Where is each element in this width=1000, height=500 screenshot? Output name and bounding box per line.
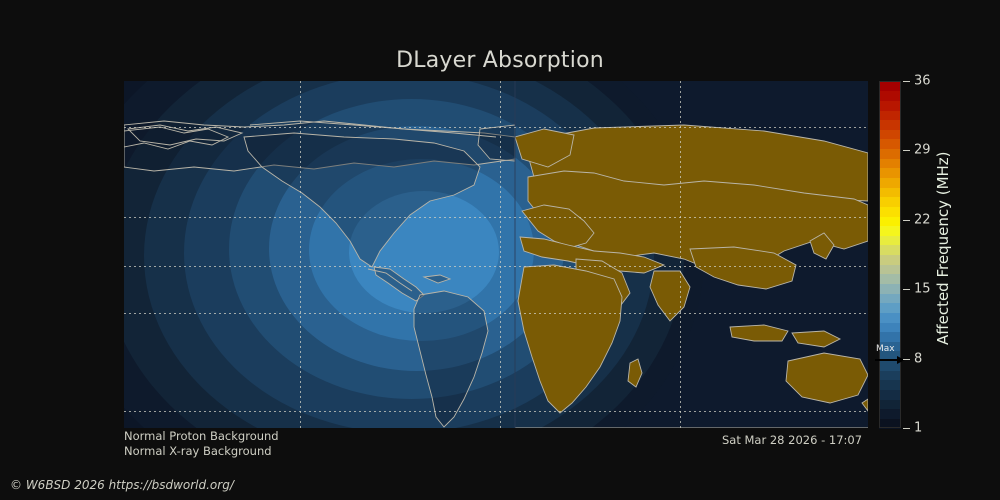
gridline-lat-30n bbox=[124, 217, 868, 218]
colorbar-tick bbox=[903, 359, 910, 360]
colorbar-tick bbox=[903, 150, 910, 151]
colorbar-tick-label: 1 bbox=[914, 421, 922, 436]
gridline-lat-60s bbox=[124, 411, 868, 412]
gridline-lat-60n bbox=[124, 127, 868, 128]
gridline-lat-10n bbox=[124, 266, 868, 267]
gridline-lat-equator bbox=[124, 313, 868, 314]
colorbar-max-marker: Max bbox=[873, 344, 913, 366]
map-canvas bbox=[124, 81, 868, 428]
colorbar-tick-label: 22 bbox=[914, 212, 931, 227]
colorbar-tick-label: 8 bbox=[914, 351, 922, 366]
colorbar-frame bbox=[879, 81, 901, 428]
copyright-label: © W6BSD 2026 https://bsdworld.org/ bbox=[10, 478, 234, 492]
page-title: DLayer Absorption bbox=[0, 48, 1000, 73]
colorbar-max-label: Max bbox=[876, 344, 895, 354]
max-arrow-icon bbox=[875, 356, 905, 364]
proton-background-status: Normal Proton Background bbox=[124, 429, 279, 443]
colorbar-tick bbox=[903, 428, 910, 429]
gridline-lon-c bbox=[680, 81, 681, 428]
colorbar-tick bbox=[903, 220, 910, 221]
colorbar-tick bbox=[903, 81, 910, 82]
colorbar-tick-label: 36 bbox=[914, 74, 931, 89]
gridline-lon-a bbox=[300, 81, 301, 428]
dlayer-absorption-map-page: DLayer Absorption bbox=[0, 0, 1000, 500]
map-geometry bbox=[124, 81, 868, 428]
world-map[interactable] bbox=[124, 81, 868, 428]
timestamp-label: Sat Mar 28 2026 - 17:07 bbox=[722, 433, 862, 447]
colorbar-axis-label-text: Affected Frequency (MHz) bbox=[934, 165, 952, 345]
colorbar-tick bbox=[903, 289, 910, 290]
colorbar-axis-label: Affected Frequency (MHz) bbox=[930, 81, 956, 428]
gridline-lon-b bbox=[500, 81, 501, 428]
colorbar-tick-label: 15 bbox=[914, 282, 931, 297]
xray-background-status: Normal X-ray Background bbox=[124, 444, 272, 458]
colorbar-tick-label: 29 bbox=[914, 143, 931, 158]
